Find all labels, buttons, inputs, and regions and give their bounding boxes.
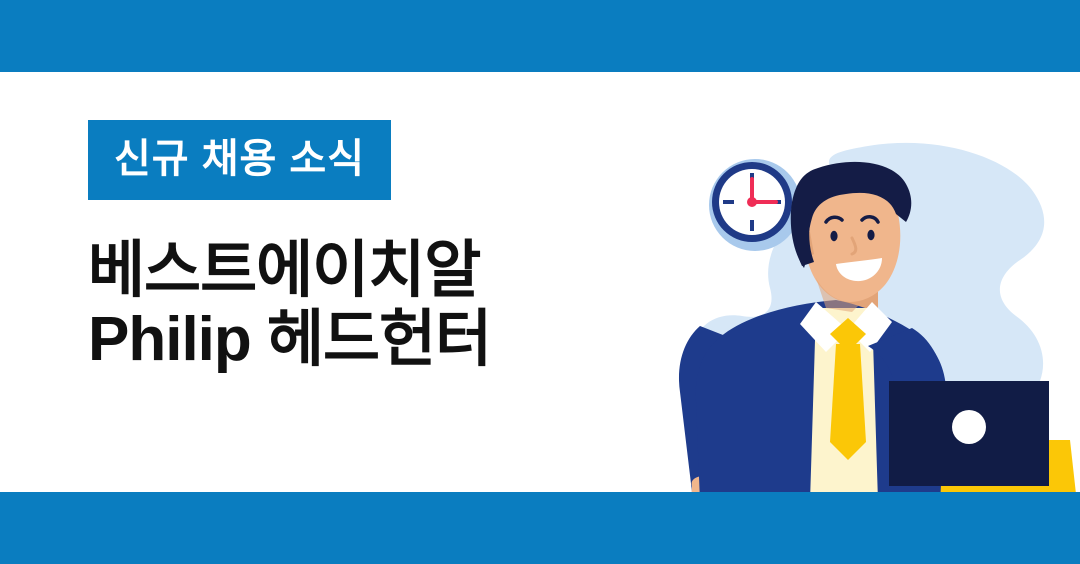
- laptop-screen: [889, 381, 1049, 486]
- tie-blade: [830, 344, 866, 460]
- headline-line-1: 베스트에이치알: [88, 236, 648, 305]
- top-accent-bar: [0, 0, 1080, 72]
- clock-tick-9: [723, 200, 734, 204]
- bottom-accent-bar: [0, 492, 1080, 564]
- laptop-camera-dot: [952, 410, 986, 444]
- clock-center-pin: [747, 197, 757, 207]
- eye-left: [830, 231, 837, 241]
- clock-tick-6: [750, 220, 754, 231]
- headline-line-2: Philip 헤드헌터: [88, 305, 648, 374]
- page-title: 베스트에이치알 Philip 헤드헌터: [88, 236, 648, 375]
- wall-clock-icon: [709, 159, 801, 251]
- eye-right: [867, 230, 874, 240]
- status-badge: 신규 채용 소식: [88, 120, 391, 200]
- recruitment-banner: 신규 채용 소식 베스트에이치알 Philip 헤드헌터: [0, 0, 1080, 564]
- text-block: 신규 채용 소식 베스트에이치알 Philip 헤드헌터: [88, 120, 648, 375]
- businessman-at-desk-illustration: [640, 72, 1080, 530]
